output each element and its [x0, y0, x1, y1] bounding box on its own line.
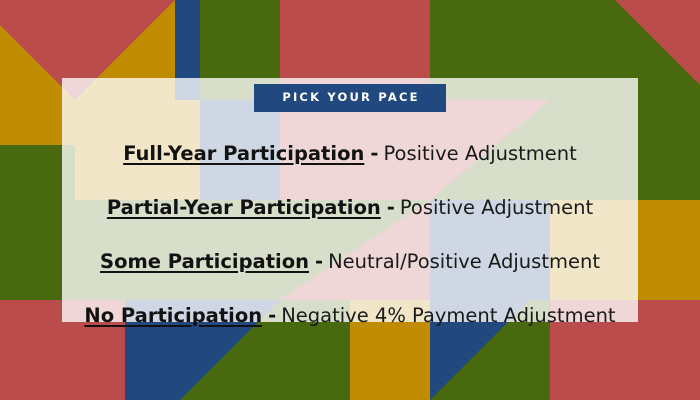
pick-your-pace-badge: PICK YOUR PACE: [254, 84, 445, 112]
infographic-canvas: PICK YOUR PACE Full-Year Participation -…: [0, 0, 700, 400]
list-item-description: Negative 4% Payment Adjustment: [281, 304, 615, 327]
list-item-separator: -: [381, 196, 400, 219]
list-item-separator: -: [309, 250, 328, 273]
list-item: Full-Year Participation - Positive Adjus…: [74, 126, 626, 180]
pattern-shape: [630, 200, 700, 300]
list-item-term: Full-Year Participation: [123, 142, 364, 165]
list-item-description: Positive Adjustment: [383, 142, 576, 165]
list-item-separator: -: [262, 304, 281, 327]
list-item: No Participation - Negative 4% Payment A…: [74, 288, 626, 342]
list-item-description: Positive Adjustment: [400, 196, 593, 219]
list-item: Some Participation - Neutral/Positive Ad…: [74, 234, 626, 288]
list-item-description: Neutral/Positive Adjustment: [328, 250, 600, 273]
participation-list: Full-Year Participation - Positive Adjus…: [62, 126, 638, 342]
badge-container: PICK YOUR PACE: [62, 84, 638, 112]
list-item: Partial-Year Participation - Positive Ad…: [74, 180, 626, 234]
list-item-term: No Participation: [84, 304, 262, 327]
content-panel: PICK YOUR PACE Full-Year Participation -…: [62, 78, 638, 322]
list-item-term: Some Participation: [100, 250, 309, 273]
list-item-separator: -: [364, 142, 383, 165]
list-item-term: Partial-Year Participation: [107, 196, 381, 219]
